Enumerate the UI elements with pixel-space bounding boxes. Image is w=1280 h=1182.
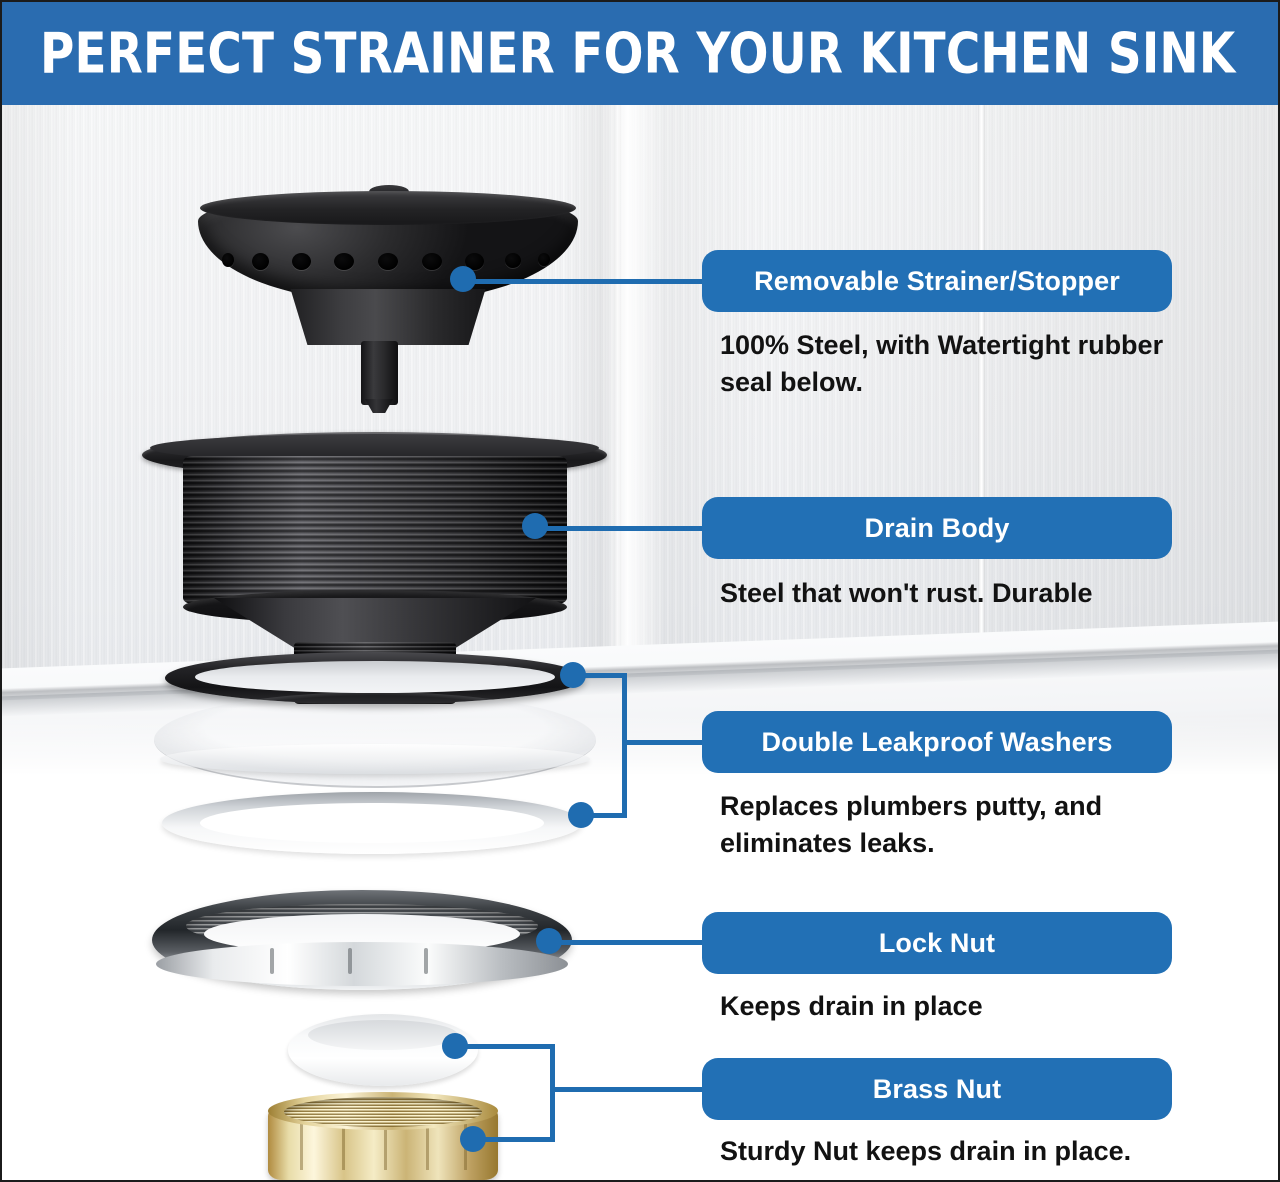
callout-description-double-leakproof-washers: Replaces plumbers putty, and eliminates … bbox=[720, 788, 1198, 863]
connector-line-brass-label bbox=[550, 1087, 708, 1092]
connector-bracket-brass bbox=[550, 1044, 555, 1142]
part-strainer-basket bbox=[198, 185, 578, 420]
part-thin-washer bbox=[162, 792, 582, 854]
connector-line-plastic-ring bbox=[464, 1044, 554, 1049]
connector-dot-drain-body bbox=[522, 513, 548, 539]
basket-stem-foot bbox=[365, 399, 393, 413]
basket-holes bbox=[222, 253, 554, 279]
connector-dot-plastic-ring bbox=[442, 1033, 468, 1059]
brass-nut-facet bbox=[342, 1122, 345, 1170]
connector-dot-rubber-washer bbox=[560, 662, 586, 688]
callout-description-removable-strainer-stopper: 100% Steel, with Watertight rubber seal … bbox=[720, 327, 1198, 402]
callout-description-drain-body: Steel that won't rust. Durable bbox=[720, 575, 1198, 612]
lock-nut-notch bbox=[270, 948, 274, 974]
part-lock-nut bbox=[152, 890, 572, 990]
connector-dot-thin-washer bbox=[568, 802, 594, 828]
callout-title-drain-body[interactable]: Drain Body bbox=[702, 497, 1172, 559]
callout-title-removable-strainer-stopper[interactable]: Removable Strainer/Stopper bbox=[702, 250, 1172, 312]
connector-line-strainer bbox=[468, 279, 708, 284]
connector-line-brass-nut bbox=[482, 1137, 554, 1142]
connector-dot-strainer bbox=[450, 266, 476, 292]
lock-nut-chrome-band bbox=[156, 942, 568, 986]
infographic-page: PERFECT STRAINER FOR YOUR KITCHEN SINK bbox=[0, 0, 1280, 1182]
soft-washer-edge bbox=[160, 744, 590, 774]
header-banner: PERFECT STRAINER FOR YOUR KITCHEN SINK bbox=[2, 2, 1280, 105]
page-title: PERFECT STRAINER FOR YOUR KITCHEN SINK bbox=[40, 21, 1235, 86]
connector-dot-lock-nut bbox=[536, 928, 562, 954]
thin-washer-hole bbox=[200, 803, 544, 843]
brass-nut-facet bbox=[426, 1122, 429, 1170]
connector-line-rubber-washer bbox=[582, 673, 627, 678]
callout-title-lock-nut[interactable]: Lock Nut bbox=[702, 912, 1172, 974]
basket-rim bbox=[200, 191, 576, 225]
part-drain-body bbox=[142, 432, 607, 677]
callout-title-double-leakproof-washers[interactable]: Double Leakproof Washers bbox=[702, 711, 1172, 773]
basket-stem bbox=[361, 341, 398, 405]
rubber-washer-hole bbox=[195, 661, 555, 693]
part-soft-washer bbox=[154, 692, 596, 788]
drain-body-threaded-barrel bbox=[183, 456, 567, 604]
connector-bracket-washers bbox=[622, 673, 627, 818]
connector-dot-brass-nut bbox=[460, 1126, 486, 1152]
lock-nut-notch bbox=[348, 948, 352, 974]
callout-description-lock-nut: Keeps drain in place bbox=[720, 988, 1198, 1025]
connector-line-drain-body bbox=[540, 526, 708, 531]
connector-line-washers-label bbox=[622, 740, 708, 745]
callout-description-brass-nut: Sturdy Nut keeps drain in place. bbox=[720, 1133, 1198, 1170]
brass-nut-threads bbox=[284, 1097, 482, 1127]
plastic-ring-hole bbox=[308, 1020, 458, 1050]
basket-skirt bbox=[282, 289, 494, 345]
lock-nut-notch bbox=[424, 948, 428, 974]
callout-title-brass-nut[interactable]: Brass Nut bbox=[702, 1058, 1172, 1120]
brass-nut-facet bbox=[300, 1122, 303, 1170]
connector-line-lock-nut bbox=[554, 940, 708, 945]
